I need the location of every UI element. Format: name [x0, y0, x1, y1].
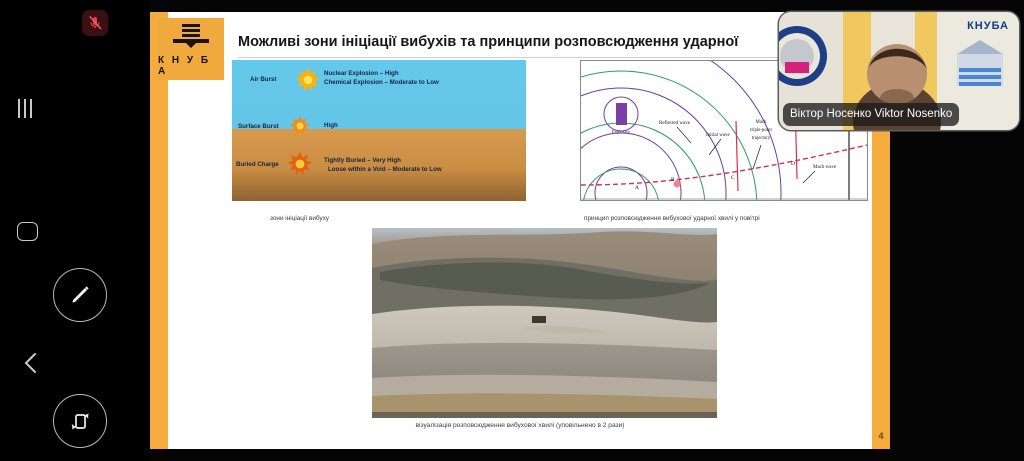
- surface-burst-icon: [290, 116, 310, 141]
- participant-name-chip: Віктор Носенко Viktor Nosenko: [783, 103, 959, 126]
- title-divider: [238, 57, 872, 58]
- back-chevron-icon[interactable]: [20, 350, 42, 376]
- figures-row: Air Burst Nuclear Explosion – High Chemi…: [232, 60, 868, 212]
- phone-screen: 4 К Н У Б А Можливі зони ініціації вибух…: [0, 0, 1024, 461]
- knuba-logo: К Н У Б А: [158, 18, 224, 80]
- slide-title: Можливі зони ініціації вибухів та принци…: [238, 28, 872, 56]
- android-navigation-rail: [0, 0, 150, 461]
- buried-charge-icon: [288, 152, 312, 181]
- svg-text:C: C: [731, 175, 735, 181]
- blast-site-photo: [372, 228, 717, 418]
- rotate-screen-icon[interactable]: [53, 394, 107, 448]
- svg-text:B: B: [671, 177, 675, 183]
- knuba-logo-text: К Н У Б А: [158, 55, 224, 77]
- buried-charge-line-2: Loose within a Void – Moderate to Low: [328, 166, 442, 175]
- svg-text:A: A: [635, 185, 639, 191]
- knuba-backdrop-text: КНУБА: [967, 20, 1009, 32]
- svg-text:Initial wave: Initial wave: [706, 133, 731, 138]
- buried-charge-label: Buried Charge: [236, 161, 279, 168]
- svg-text:Explosive: Explosive: [612, 129, 630, 134]
- burst-zones-figure: Air Burst Nuclear Explosion – High Chemi…: [232, 60, 526, 201]
- surface-burst-label: Surface Burst: [238, 123, 279, 130]
- photo-caption: візуалізація розповсюдження вибухової хв…: [150, 422, 890, 429]
- figure-left-caption: зони ініціації вибуху: [270, 215, 329, 222]
- microphone-muted-icon[interactable]: [82, 10, 108, 36]
- svg-text:Mach: Mach: [756, 120, 768, 125]
- air-burst-line-2: Chemical Explosion – Moderate to Low: [324, 79, 439, 88]
- air-burst-label: Air Burst: [250, 76, 276, 83]
- pencil-edit-icon[interactable]: [53, 268, 107, 322]
- svg-text:triple-point: triple-point: [750, 128, 772, 133]
- recents-icon[interactable]: [18, 97, 40, 119]
- svg-text:D: D: [791, 161, 795, 167]
- svg-text:Mach wave: Mach wave: [813, 165, 837, 170]
- slide-page-number: 4: [872, 431, 890, 441]
- surface-burst-line-1: High: [324, 122, 338, 131]
- svg-text:trajectory: trajectory: [752, 136, 771, 141]
- air-burst-icon: [296, 68, 320, 97]
- home-icon[interactable]: [17, 222, 38, 241]
- svg-text:Reflected wave: Reflected wave: [659, 121, 691, 126]
- buried-charge-line-1: Tightly Buried – Very High: [324, 157, 401, 166]
- figure-right-caption: принцип розповсюдження вибухової ударної…: [584, 215, 760, 222]
- participant-video-tile[interactable]: КНУБА Віктор Носенко Viktor Nosenko: [779, 12, 1019, 130]
- air-burst-line-1: Nuclear Explosion – High: [324, 70, 399, 79]
